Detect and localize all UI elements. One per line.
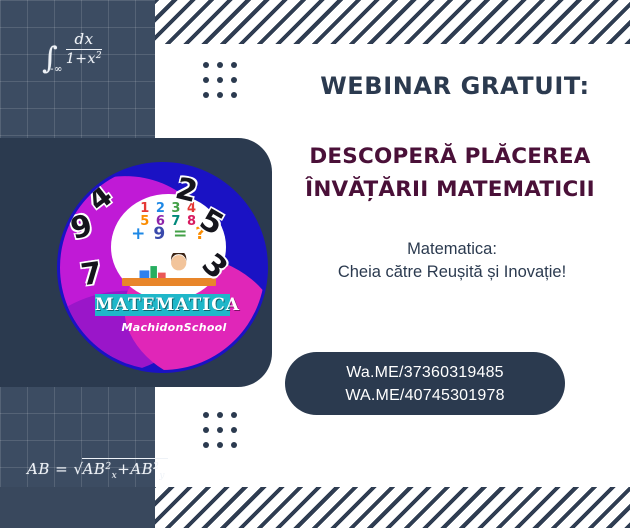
dot — [203, 92, 209, 98]
dot-grid-bottom — [203, 412, 245, 457]
integral-lower-limit: -∞ — [50, 64, 63, 75]
tagline-line-2: Cheia către Reușită și Inovație! — [282, 261, 622, 284]
vector-magnitude-formula: AB = √AB2x+AB2y — [27, 460, 168, 481]
dot — [203, 77, 209, 83]
dot — [231, 92, 237, 98]
machidonschool-logo: 1 2 3 4 5 6 7 8 + 9 = ? — [60, 165, 265, 370]
dot — [203, 427, 209, 433]
poster-tagline: Matematica: Cheia către Reușită și Inova… — [282, 238, 622, 284]
dot — [217, 412, 223, 418]
contact-pill[interactable]: Wa.ME/37360319485 WA.ME/40745301978 — [285, 352, 565, 415]
vector-equals: = — [55, 460, 68, 478]
diagonal-stripe-band-top — [155, 0, 630, 44]
dot — [217, 62, 223, 68]
poster-subheadline: DESCOPERĂ PLĂCEREA ÎNVĂȚĂRII MATEMATICII — [272, 140, 628, 206]
page-title: WEBINAR GRATUIT: — [285, 72, 625, 100]
dot — [203, 442, 209, 448]
dot — [203, 62, 209, 68]
dot — [231, 427, 237, 433]
poster-canvas: ∫-∞dx1+x2 AB = √AB2x+AB2y 1 2 3 4 5 — [0, 0, 630, 528]
dot — [203, 412, 209, 418]
dot-grid-top — [203, 62, 245, 107]
integral-formula: ∫-∞dx1+x2 — [42, 30, 102, 76]
vector-lhs: AB — [27, 460, 50, 478]
integral-denominator: 1+x2 — [66, 50, 102, 67]
vector-radicand: AB2x+AB2y — [82, 458, 168, 478]
whatsapp-link-2[interactable]: WA.ME/40745301978 — [345, 384, 504, 407]
dot — [231, 442, 237, 448]
integral-denominator-exponent: 2 — [96, 51, 102, 61]
integral-fraction: dx1+x2 — [66, 30, 102, 67]
integral-numerator: dx — [66, 30, 102, 50]
dot — [217, 442, 223, 448]
subheadline-line-2: ÎNVĂȚĂRII MATEMATICII — [272, 173, 628, 206]
subheadline-line-1: DESCOPERĂ PLĂCEREA — [272, 140, 628, 173]
tagline-line-1: Matematica: — [282, 238, 622, 261]
dot — [231, 77, 237, 83]
dot — [231, 412, 237, 418]
dot — [217, 427, 223, 433]
whatsapp-link-1[interactable]: Wa.ME/37360319485 — [346, 361, 504, 384]
dot — [217, 92, 223, 98]
logo-brand-banner: MATEMATICA — [95, 294, 230, 316]
logo-school-name: MachidonSchool — [122, 321, 249, 334]
stripe-band-left-mask — [0, 487, 155, 528]
dot — [217, 77, 223, 83]
dot — [231, 62, 237, 68]
